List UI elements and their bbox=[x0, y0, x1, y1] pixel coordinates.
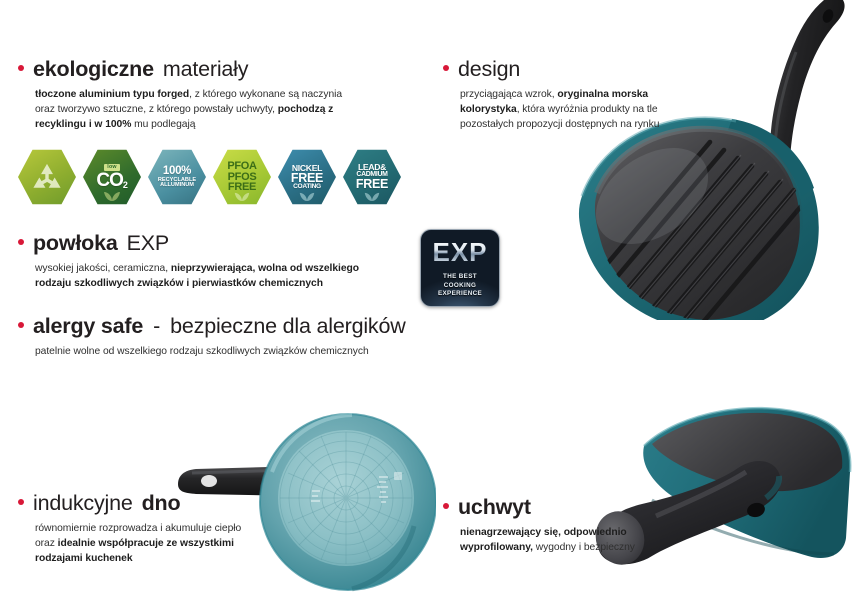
feature-eco: ekologiczne materiały tłoczone aluminium… bbox=[18, 58, 418, 132]
grill-pan-angled-image bbox=[556, 0, 852, 320]
feature-coating-title: powłoka EXP bbox=[18, 232, 418, 255]
feature-eco-body: tłoczone aluminium typu forged, z któreg… bbox=[35, 87, 355, 133]
feature-eco-title-strong: ekologiczne bbox=[33, 58, 154, 81]
infographic-canvas: ekologiczne materiały tłoczone aluminium… bbox=[0, 0, 852, 608]
bullet-dot-icon bbox=[18, 322, 24, 328]
feature-coating: powłoka EXP wysokiej jakości, ceramiczna… bbox=[18, 232, 418, 291]
feature-design-title: design bbox=[443, 58, 693, 81]
feature-coating-body-1: wysokiej jakości, ceramiczna, bbox=[35, 263, 171, 274]
feature-handle: uchwyt nienagrzewający się, odpowiednio … bbox=[443, 496, 693, 555]
exp-logo: EXP THE BEST COOKING EXPERIENCE bbox=[420, 229, 500, 307]
badge-lead-line-2: FREE bbox=[356, 178, 388, 190]
feature-induction-title-strong: dno bbox=[142, 492, 181, 515]
feature-handle-title-strong: uchwyt bbox=[458, 496, 531, 519]
feature-handle-body-2: wygodny i bezpieczny bbox=[533, 542, 635, 553]
bullet-dot-icon bbox=[443, 503, 449, 509]
feature-design: design przyciągająca wzrok, oryginalna m… bbox=[443, 58, 693, 132]
bullet-dot-icon bbox=[443, 65, 449, 71]
leaf-icon bbox=[364, 191, 380, 201]
certification-badges: low CO2 100% RECYCLABLE ALLUMINUM PFOA P… bbox=[18, 148, 401, 206]
feature-eco-body-4: mu podlegają bbox=[131, 119, 195, 130]
feature-induction-body: równomiernie rozprowadza i akumuluje cie… bbox=[35, 521, 250, 567]
feature-design-body: przyciągająca wzrok, oryginalna morska k… bbox=[460, 87, 682, 133]
feature-handle-body: nienagrzewający się, odpowiednio wyprofi… bbox=[460, 525, 660, 555]
exp-logo-word: EXP bbox=[432, 239, 487, 265]
feature-induction: indukcyjne dno równomiernie rozprowadza … bbox=[18, 492, 268, 566]
feature-coating-title-light: EXP bbox=[127, 232, 169, 255]
feature-induction-body-2: idealnie współpracuje ze wszystkimi rodz… bbox=[35, 538, 234, 564]
feature-eco-title: ekologiczne materiały bbox=[18, 58, 418, 81]
feature-induction-title-light: indukcyjne bbox=[33, 492, 133, 515]
badge-low-co2-line-2: 2 bbox=[123, 181, 128, 190]
feature-coating-title-strong: powłoka bbox=[33, 232, 118, 255]
feature-eco-title-light: materiały bbox=[163, 58, 248, 81]
bullet-dot-icon bbox=[18, 65, 24, 71]
bullet-dot-icon bbox=[18, 499, 24, 505]
recycle-arrows-icon bbox=[30, 162, 64, 193]
feature-coating-body: wysokiej jakości, ceramiczna, nieprzywie… bbox=[35, 261, 380, 291]
leaf-icon bbox=[299, 191, 315, 201]
exp-logo-tagline-1: THE BEST bbox=[438, 273, 482, 282]
feature-allergy-title-strong: alergy safe bbox=[33, 315, 143, 338]
feature-induction-title: indukcyjne dno bbox=[18, 492, 268, 515]
feature-eco-body-1: tłoczone aluminium typu forged bbox=[35, 89, 189, 100]
leaf-icon bbox=[104, 190, 120, 201]
feature-allergy-title: alergy safe - bezpieczne dla alergików bbox=[18, 315, 438, 338]
feature-handle-title: uchwyt bbox=[443, 496, 693, 519]
badge-low-co2-line-1: CO bbox=[96, 172, 123, 190]
exp-logo-tagline-3: EXPERIENCE bbox=[438, 290, 482, 299]
badge-100-recyclable-aluminium: 100% RECYCLABLE ALLUMINUM bbox=[148, 148, 206, 206]
badge-recyclable-line-0: 100% bbox=[163, 166, 191, 177]
exp-logo-tagline: THE BEST COOKING EXPERIENCE bbox=[438, 273, 482, 299]
badge-nickel-line-2: COATING bbox=[293, 184, 321, 190]
badge-low-co2: low CO2 bbox=[83, 148, 141, 206]
feature-design-body-1: przyciągająca wzrok, bbox=[460, 89, 557, 100]
feature-allergy-body: patelnie wolne od wszelkiego rodzaju szk… bbox=[35, 344, 435, 359]
badge-nickel-free-coating: NICKEL FREE COATING bbox=[278, 148, 336, 206]
badge-lead-cadmium-free: LEAD& CADMIUM FREE bbox=[343, 148, 401, 206]
feature-allergy-title-light: bezpieczne dla alergików bbox=[170, 315, 405, 338]
pan-handle-closeup-image bbox=[560, 388, 852, 588]
feature-allergy-title-dash: - bbox=[152, 315, 161, 338]
bullet-dot-icon bbox=[18, 239, 24, 245]
feature-allergy: alergy safe - bezpieczne dla alergików p… bbox=[18, 315, 438, 359]
leaf-icon bbox=[233, 191, 251, 201]
badge-recyclable-symbol bbox=[18, 148, 76, 206]
badge-pfoa-pfos-free: PFOA PFOS FREE bbox=[213, 148, 271, 206]
feature-design-title-light: design bbox=[458, 58, 520, 81]
badge-recyclable-line-2: ALLUMINUM bbox=[160, 183, 194, 188]
